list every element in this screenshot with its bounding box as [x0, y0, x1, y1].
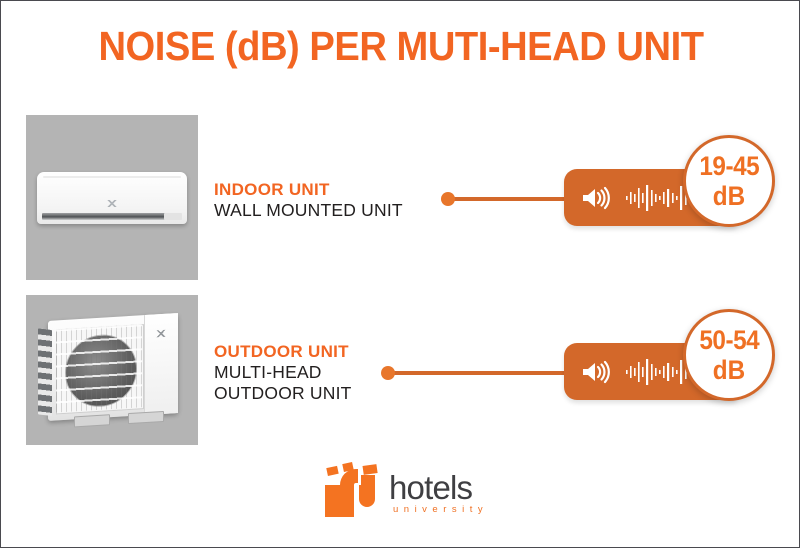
- mitsubishi-logo-icon: [101, 200, 123, 207]
- outdoor-unit-foot-right: [128, 411, 164, 424]
- outdoor-unit-label-title: OUTDOOR UNIT: [214, 341, 352, 362]
- outdoor-unit-foot-left: [74, 414, 110, 427]
- indoor-unit-label-sub-1: WALL MOUNTED UNIT: [214, 200, 403, 221]
- indoor-db-badge: 19-45 dB: [683, 135, 775, 227]
- outdoor-unit-control-panel: [144, 313, 178, 415]
- indoor-unit-label-block: INDOOR UNIT WALL MOUNTED UNIT: [214, 179, 403, 221]
- indoor-unit-air-vent: [42, 213, 170, 220]
- outdoor-unit-photo: [26, 295, 198, 445]
- indoor-unit-side-panel: [164, 213, 182, 220]
- indoor-unit-label-title: INDOOR UNIT: [214, 179, 403, 200]
- indoor-db-value: 19-45: [699, 153, 759, 180]
- indoor-unit-illustration: [37, 172, 187, 224]
- outdoor-unit-label-sub-2: OUTDOOR UNIT: [214, 383, 352, 404]
- outdoor-connector-line: [388, 371, 570, 375]
- page-title: NOISE (dB) PER MUTI-HEAD UNIT: [29, 23, 773, 70]
- outdoor-unit-label-sub-1: MULTI-HEAD: [214, 362, 352, 383]
- outdoor-db-unit: dB: [713, 357, 745, 384]
- outdoor-connector-dot: [381, 366, 395, 380]
- outdoor-unit-illustration: [48, 313, 178, 421]
- indoor-connector-line: [448, 197, 570, 201]
- indoor-unit-photo: [26, 115, 198, 280]
- logo-subtext: university: [393, 504, 488, 515]
- indoor-db-unit: dB: [713, 183, 745, 210]
- logo-wordmark: hotels: [389, 471, 472, 505]
- mitsubishi-logo-icon: [151, 329, 171, 337]
- indoor-unit-top-seam: [43, 176, 181, 178]
- nu-monogram-icon: [321, 508, 393, 525]
- speaker-icon: [581, 186, 611, 215]
- indoor-connector-dot: [441, 192, 455, 206]
- outdoor-db-value: 50-54: [699, 327, 759, 354]
- infographic-page: NOISE (dB) PER MUTI-HEAD UNIT INDOOR UNI…: [0, 0, 800, 548]
- brand-logo: hotels university: [321, 459, 496, 529]
- outdoor-db-badge: 50-54 dB: [683, 309, 775, 401]
- speaker-icon: [581, 360, 611, 389]
- outdoor-unit-label-block: OUTDOOR UNIT MULTI-HEAD OUTDOOR UNIT: [214, 341, 352, 404]
- outdoor-unit-grille-horizontal-bars: [56, 324, 142, 412]
- outdoor-unit-side-vents: [38, 328, 52, 416]
